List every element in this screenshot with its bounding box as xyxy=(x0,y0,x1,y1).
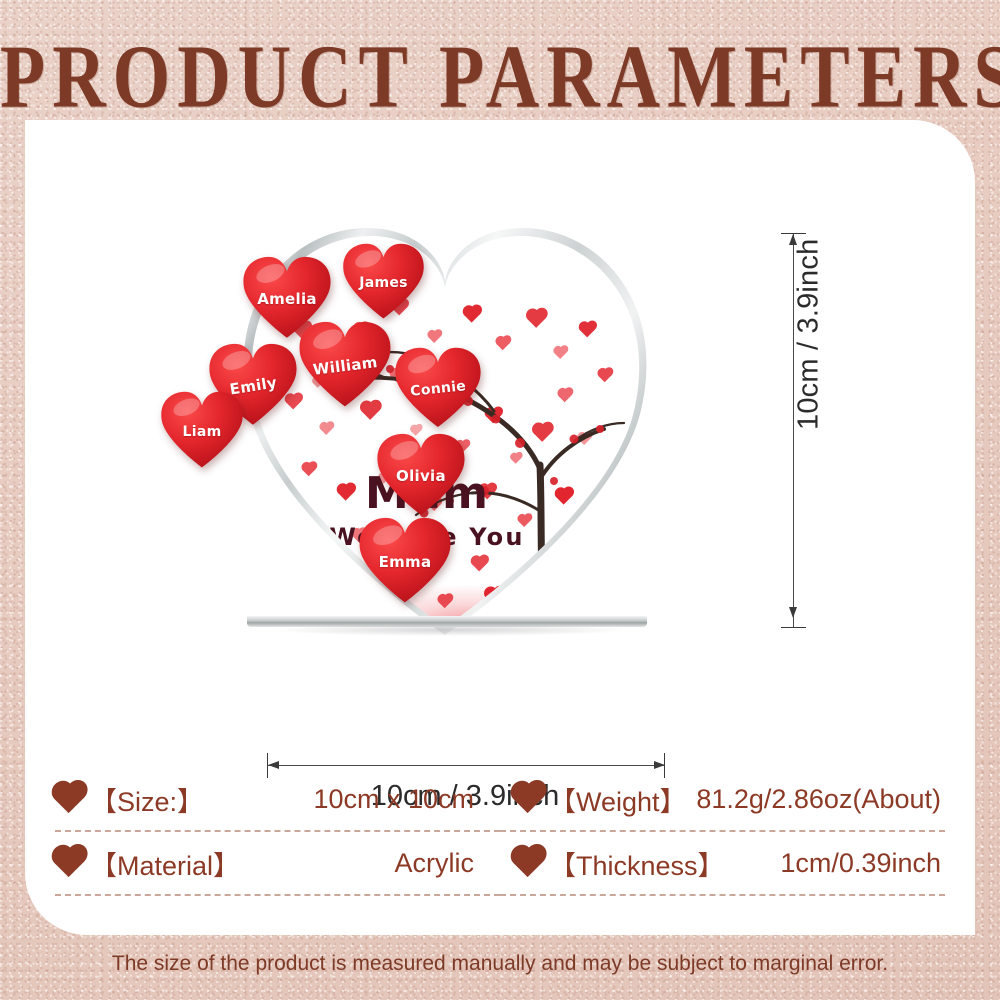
dimension-vertical-label: 10cm / 3.9inch xyxy=(793,239,826,430)
spec-value: 10cm x 10cm xyxy=(313,784,474,815)
spec-key: 【Size:】 xyxy=(90,780,204,819)
heart-shape xyxy=(297,320,393,408)
spec-row: 【Size:】 10cm x 10cm 【Weight】 81.2g/2.86o… xyxy=(55,768,945,830)
arrow-down-icon xyxy=(789,607,797,618)
name-heart-liam: Liam xyxy=(159,390,245,470)
footer-note: The size of the product is measured manu… xyxy=(0,952,1000,976)
heart-shape xyxy=(375,432,467,517)
plaque-drop-shadow xyxy=(275,624,625,636)
spec-row: 【Material】 Acrylic 【Thickness】 1cm/0.39i… xyxy=(55,832,945,894)
spec-key: 【Thickness】 xyxy=(549,844,725,883)
heart-icon xyxy=(54,783,84,813)
spec-table: 【Size:】 10cm x 10cm 【Weight】 81.2g/2.86o… xyxy=(55,768,945,896)
spec-divider xyxy=(55,894,945,896)
dimension-vertical: 10cm / 3.9inch xyxy=(765,225,855,635)
name-heart-olivia: Olivia xyxy=(375,432,467,516)
divider-left xyxy=(55,894,500,896)
heart-shape xyxy=(159,390,245,469)
heart-shape xyxy=(357,516,453,604)
name-heart-james: James xyxy=(341,242,426,320)
spec-key: 【Weight】 xyxy=(549,780,687,819)
dimension-line xyxy=(267,765,665,766)
spec-cell-size: 【Size:】 10cm x 10cm xyxy=(55,768,500,830)
name-heart-william: William xyxy=(297,320,393,408)
spec-value: 1cm/0.39inch xyxy=(780,848,941,879)
spec-cell-weight: 【Weight】 81.2g/2.86oz(About) xyxy=(500,768,945,830)
dimension-cap-bottom xyxy=(781,627,806,628)
spec-value: 81.2g/2.86oz(About) xyxy=(696,784,941,815)
acrylic-heart-plaque: Mum We Love You Amelia xyxy=(235,220,655,635)
page-title: PRODUCT PARAMETERS xyxy=(0,26,1000,130)
spec-key: 【Material】 xyxy=(90,844,240,883)
heart-icon xyxy=(54,847,84,877)
divider-right xyxy=(500,894,945,896)
spec-cell-material: 【Material】 Acrylic xyxy=(55,832,500,894)
spec-cell-thickness: 【Thickness】 1cm/0.39inch xyxy=(500,832,945,894)
heart-shape xyxy=(341,242,426,320)
product-illustration: Mum We Love You Amelia xyxy=(25,120,975,700)
base-petal xyxy=(528,599,540,611)
heart-icon xyxy=(513,783,543,813)
name-heart-connie: Connie xyxy=(393,346,483,428)
content-card: Mum We Love You Amelia xyxy=(25,120,975,935)
heart-shape xyxy=(393,346,483,429)
heart-icon xyxy=(513,847,543,877)
name-heart-emma: Emma xyxy=(357,516,453,604)
spec-value: Acrylic xyxy=(395,848,475,879)
